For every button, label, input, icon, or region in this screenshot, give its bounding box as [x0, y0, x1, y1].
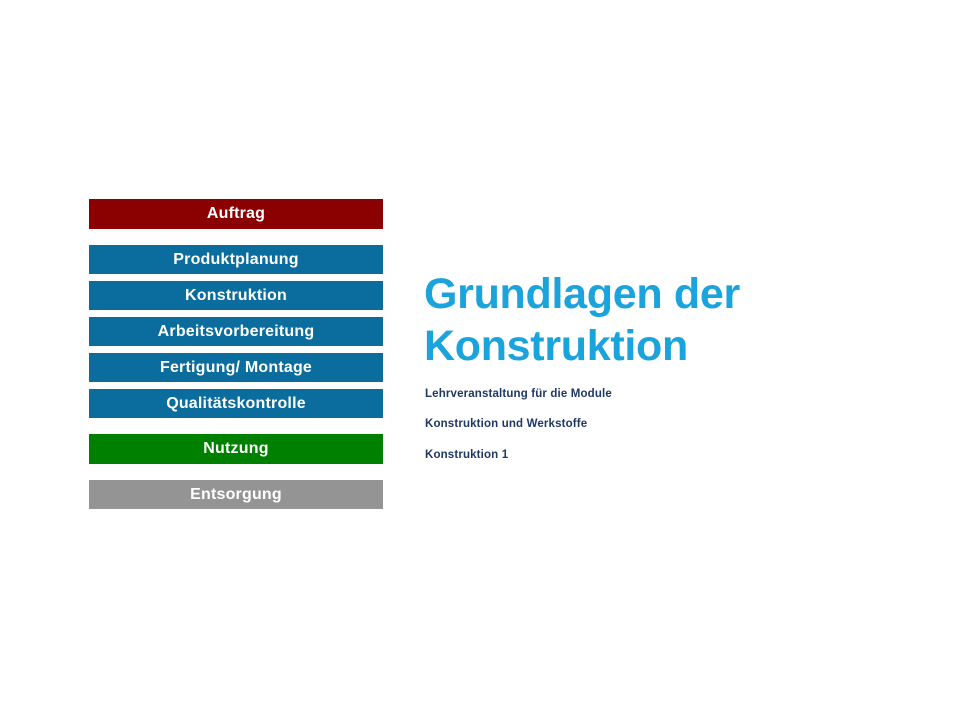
process-bar-konstruktion[interactable]: Konstruktion [89, 281, 383, 310]
process-group-disposal: Entsorgung [89, 480, 383, 509]
subtitle-list: Lehrveranstaltung für die Module Konstru… [425, 389, 854, 462]
process-group-production: Produktplanung Konstruktion Arbeitsvorbe… [89, 245, 383, 418]
page-title-line-2: Konstruktion [424, 322, 688, 370]
process-bar-label: Konstruktion [185, 288, 287, 304]
page-title: Grundlagen der Konstruktion [424, 268, 854, 373]
process-bar-label: Fertigung/ Montage [160, 360, 312, 376]
process-bar-label: Entsorgung [190, 487, 282, 503]
process-bar-label: Auftrag [207, 206, 265, 222]
process-bar-entsorgung[interactable]: Entsorgung [89, 480, 383, 509]
process-bar-arbeitsvorbereitung[interactable]: Arbeitsvorbereitung [89, 317, 383, 346]
subtitle-line-1: Lehrveranstaltung für die Module [425, 389, 854, 401]
process-group-order: Auftrag [89, 199, 383, 229]
subtitle-line-2: Konstruktion und Werkstoffe [425, 419, 854, 431]
process-bar-label: Qualitätskontrolle [166, 396, 306, 412]
process-bar-label: Produktplanung [173, 252, 298, 268]
slide-canvas: Auftrag Produktplanung Konstruktion Arbe… [0, 0, 960, 720]
process-bar-qualitaetskontrolle[interactable]: Qualitätskontrolle [89, 389, 383, 418]
process-bar-produktplanung[interactable]: Produktplanung [89, 245, 383, 274]
page-title-line-1: Grundlagen der [424, 270, 740, 318]
process-bar-label: Arbeitsvorbereitung [158, 324, 315, 340]
process-bar-nutzung[interactable]: Nutzung [89, 434, 383, 464]
subtitle-line-3: Konstruktion 1 [425, 450, 854, 462]
process-bar-auftrag[interactable]: Auftrag [89, 199, 383, 229]
title-block: Grundlagen der Konstruktion Lehrveransta… [424, 268, 854, 461]
process-bar-fertigung-montage[interactable]: Fertigung/ Montage [89, 353, 383, 382]
process-bar-label: Nutzung [203, 441, 268, 457]
process-chain-diagram: Auftrag Produktplanung Konstruktion Arbe… [89, 199, 383, 509]
process-group-use: Nutzung [89, 434, 383, 464]
